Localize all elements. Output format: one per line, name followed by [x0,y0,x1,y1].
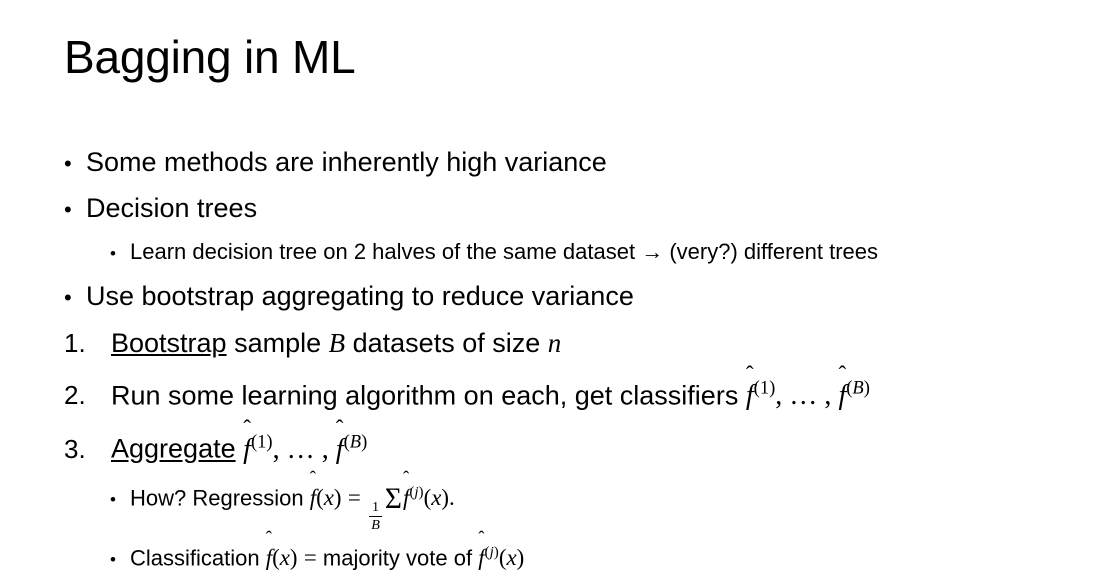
math-x: x [324,485,334,510]
superscript: (1) [251,431,273,452]
math-x: x [506,545,516,570]
f-hat-symbol: ̂f [746,373,754,419]
math-expression: ̂f(1), … , ̂f(B) [243,434,367,465]
math-variable-b: B [329,328,346,358]
superscript: (B) [344,431,368,452]
slide-canvas: Bagging in ML • Some methods are inheren… [0,0,1096,560]
f-hat-symbol: ̂f [336,427,344,473]
list-item-text: Learn decision tree on 2 halves of the s… [130,232,878,272]
list-item: • Some methods are inherently high varia… [64,140,1076,186]
math-expression: ̂f(x)=1BΣ̂f(j)(x). [310,485,455,510]
f-hat-symbol: ̂f [243,427,251,473]
text-fragment: majority vote of [317,545,478,570]
sigma-icon: Σ [384,483,403,515]
bullet-icon: • [110,234,130,274]
bullet-icon: • [64,276,86,320]
math-x: x [431,485,441,510]
superscript: (j) [409,485,423,501]
f-hat-symbol: ̂f [478,538,484,578]
list-item-text: Some methods are inherently high varianc… [86,140,607,184]
math-f: f [266,545,272,570]
sup-value: 1 [257,431,266,452]
math-f: f [310,485,316,510]
sup-value: j [414,485,418,501]
sup-value: B [852,378,863,399]
math-expression: ̂f(1), … , ̂f(B) [746,380,870,411]
f-hat-symbol: ̂f [403,478,409,518]
list-item: • Use bootstrap aggregating to reduce va… [64,274,1076,320]
list-item-text: How? Regression ̂f(x)=1BΣ̂f(j)(x). [130,473,455,533]
bullet-icon: • [110,480,130,520]
paren-close: ) [290,545,298,570]
text-fragment: sample [227,328,329,358]
text-fragment: datasets of size [345,328,548,358]
list-number: 2. [64,372,111,418]
list-item-text: Decision trees [86,186,257,230]
f-hat-symbol: ̂f [310,478,316,518]
superscript: (1) [754,378,776,399]
numbered-list-item: 1. Bootstrap sample B datasets of size n [64,320,1076,366]
paren-close: ) [441,485,449,510]
sup-value: j [490,545,494,561]
numbered-list-item: 2. Run some learning algorithm on each, … [64,366,1076,419]
math-expression: ̂f(x)= [266,545,317,570]
list-item-text: Bootstrap sample B datasets of size n [111,320,561,366]
math-variable-n: n [548,328,562,358]
superscript: (B) [846,378,870,399]
list-item: • Learn decision tree on 2 halves of the… [64,232,1076,274]
sup-value: B [350,431,361,452]
list-number: 3. [64,426,111,472]
equals-sign: = [304,545,317,570]
math-x: x [280,545,290,570]
math-f: f [336,434,344,465]
list-item-text: Run some learning algorithm on each, get… [111,366,870,419]
paren-open: ( [316,485,324,510]
underlined-term: Aggregate [111,434,236,464]
ellipsis-separator: , … , [775,380,838,411]
list-item-text: Aggregatêf(1), … , ̂f(B) [111,419,367,472]
bullet-icon: • [64,188,86,232]
numbered-list-item: 3. Aggregatêf(1), … , ̂f(B) [64,419,1076,472]
list-item-text: Use bootstrap aggregating to reduce vari… [86,274,634,318]
list-item: • Decision trees [64,186,1076,232]
text-fragment: Classification [130,545,266,570]
fraction-denominator: B [369,518,382,533]
equals-sign: = [348,485,361,510]
paren-close: ) [334,485,342,510]
superscript: (j) [485,545,499,561]
text-fragment: Run some learning algorithm on each, get… [111,380,746,410]
list-number: 1. [64,320,111,366]
period: . [449,485,455,510]
list-item-text: Classification ̂f(x)= majority vote of ̂… [130,533,524,579]
math-f: f [478,545,484,570]
ellipsis-separator: , … , [273,434,336,465]
math-expression: ̂f(j)(x) [478,545,524,570]
math-f: f [746,380,754,411]
f-hat-symbol: ̂f [266,538,272,578]
page-title: Bagging in ML [64,32,355,84]
f-hat-symbol: ̂f [838,373,846,419]
paren-open: ( [272,545,280,570]
math-f: f [403,485,409,510]
fraction-numerator: 1 [370,500,381,515]
list-item: • Classification ̂f(x)= majority vote of… [64,533,1076,580]
math-f: f [838,380,846,411]
fraction-one-over-b: 1B [369,500,382,533]
bullet-icon: • [64,142,86,186]
sup-value: 1 [760,378,769,399]
text-fragment: How? Regression [130,485,310,510]
bullet-icon: • [110,540,130,580]
paren-close: ) [517,545,525,570]
slide-body-list: • Some methods are inherently high varia… [64,140,1076,580]
list-item: • How? Regression ̂f(x)=1BΣ̂f(j)(x). [64,473,1076,533]
math-f: f [243,434,251,465]
underlined-term: Bootstrap [111,328,227,358]
